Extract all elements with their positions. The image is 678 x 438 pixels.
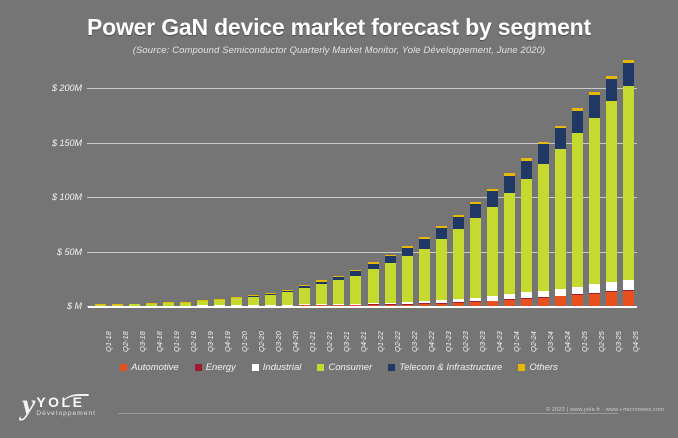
x-axis-tick-label: Q4-24 — [563, 331, 572, 352]
bar-segment-telecom-infrastructure — [521, 161, 532, 180]
legend-item-others[interactable]: Others — [518, 362, 558, 373]
x-axis-tick-labels: Q1-18Q2-18Q3-18Q4-18Q1-19Q2-19Q3-19Q4-19… — [92, 310, 637, 356]
y-axis-tick-mark — [87, 252, 93, 253]
bar-segment-consumer — [487, 207, 498, 296]
bar-segment-automotive — [538, 298, 549, 306]
legend-swatch-consumer — [317, 364, 324, 371]
bar-segment-telecom-infrastructure — [453, 217, 464, 230]
x-axis-tick-label: Q3-22 — [410, 331, 419, 352]
y-axis-tick-mark — [87, 197, 93, 198]
x-axis-tick-label: Q2-24 — [529, 331, 538, 352]
x-axis-tick-label: Q1-25 — [580, 331, 589, 352]
legend-label-energy: Energy — [206, 362, 236, 373]
bar-segment-consumer — [248, 297, 259, 305]
y-axis-tick-label: $ 100M — [52, 192, 82, 202]
x-axis-tick-label: Q1-24 — [512, 331, 521, 352]
bar-Q3-24[interactable] — [538, 142, 549, 306]
legend-item-automotive[interactable]: Automotive — [120, 362, 179, 373]
bar-segment-industrial — [555, 289, 566, 296]
bar-segment-automotive — [589, 294, 600, 306]
page-title: Power GaN device market forecast by segm… — [0, 14, 678, 41]
x-axis-tick-label: Q4-22 — [427, 331, 436, 352]
legend-item-consumer[interactable]: Consumer — [317, 362, 372, 373]
x-axis-tick-label: Q2-22 — [393, 331, 402, 352]
bar-segment-industrial — [572, 287, 583, 295]
logo-y-mark: y — [22, 392, 35, 418]
x-axis-tick-label: Q1-20 — [240, 331, 249, 352]
bar-Q3-25[interactable] — [606, 76, 617, 306]
bar-Q4-21[interactable] — [350, 270, 361, 306]
bar-Q4-25[interactable] — [623, 60, 634, 306]
x-axis-tick-label: Q2-21 — [325, 331, 334, 352]
bar-segment-telecom-infrastructure — [606, 79, 617, 102]
bar-segment-consumer — [419, 249, 430, 301]
legend-item-telecom-infrastructure[interactable]: Telecom & Infrastructure — [388, 362, 502, 373]
bar-segment-consumer — [231, 298, 242, 305]
bar-segment-consumer — [538, 164, 549, 290]
chart-subtitle: (Source: Compound Semiconductor Quarterl… — [0, 45, 678, 56]
y-axis-tick-label: $ M — [67, 301, 82, 311]
x-axis-line — [88, 306, 637, 308]
bar-Q2-20[interactable] — [248, 295, 259, 306]
bar-segment-consumer — [299, 288, 310, 304]
bar-segment-telecom-infrastructure — [470, 204, 481, 218]
bar-segment-consumer — [623, 86, 634, 280]
bar-segment-consumer — [333, 280, 344, 304]
gridline — [92, 88, 637, 89]
chart-page: Power GaN device market forecast by segm… — [0, 0, 678, 438]
legend-swatch-energy — [195, 364, 202, 371]
bar-segment-telecom-infrastructure — [572, 111, 583, 133]
x-axis-tick-label: Q1-19 — [172, 331, 181, 352]
bar-Q4-20[interactable] — [282, 290, 293, 306]
x-axis-tick-label: Q1-23 — [444, 331, 453, 352]
bar-segment-telecom-infrastructure — [385, 256, 396, 263]
bar-Q1-21[interactable] — [299, 285, 310, 306]
y-axis-tick-labels: $ M$ 50M$ 100M$ 150M$ 200M — [0, 88, 92, 313]
bar-Q2-23[interactable] — [453, 215, 464, 306]
bar-segment-consumer — [368, 269, 379, 303]
y-axis-tick-mark — [87, 88, 93, 89]
bar-segment-consumer — [572, 133, 583, 287]
bar-Q1-22[interactable] — [368, 262, 379, 306]
bar-segment-telecom-infrastructure — [436, 228, 447, 239]
bar-segment-telecom-infrastructure — [419, 239, 430, 249]
legend-label-industrial: Industrial — [263, 362, 302, 373]
bar-segment-telecom-infrastructure — [504, 176, 515, 193]
bar-segment-automotive — [623, 291, 634, 306]
bar-segment-telecom-infrastructure — [487, 191, 498, 207]
bar-Q2-25[interactable] — [589, 92, 600, 306]
bar-segment-automotive — [521, 299, 532, 306]
footer-copyright: © 2020 | www.yole.fr - www.i-micronews.c… — [546, 407, 664, 413]
bar-Q1-25[interactable] — [572, 108, 583, 306]
legend-label-consumer: Consumer — [328, 362, 372, 373]
bar-segment-consumer — [402, 256, 413, 302]
bar-segment-consumer — [385, 263, 396, 302]
x-axis-tick-label: Q4-21 — [359, 331, 368, 352]
x-axis-tick-label: Q4-18 — [155, 331, 164, 352]
x-axis-tick-label: Q4-23 — [495, 331, 504, 352]
y-axis-tick-label: $ 50M — [57, 247, 82, 257]
bar-segment-industrial — [589, 284, 600, 292]
x-axis-tick-label: Q2-23 — [461, 331, 470, 352]
x-axis-tick-label: Q2-18 — [121, 331, 130, 352]
bar-Q2-21[interactable] — [316, 280, 327, 306]
legend-label-automotive: Automotive — [131, 362, 179, 373]
x-axis-tick-label: Q3-25 — [614, 331, 623, 352]
legend-item-energy[interactable]: Energy — [195, 362, 236, 373]
bar-Q2-24[interactable] — [521, 158, 532, 306]
plot-area — [92, 88, 637, 306]
y-axis-tick-label: $ 150M — [52, 138, 82, 148]
x-axis-tick-label: Q4-25 — [631, 331, 640, 352]
bar-segment-consumer — [521, 179, 532, 292]
bar-segment-telecom-infrastructure — [402, 248, 413, 256]
bar-segment-telecom-infrastructure — [538, 144, 549, 164]
bar-Q3-22[interactable] — [402, 246, 413, 306]
bar-segment-consumer — [282, 292, 293, 305]
bar-Q4-24[interactable] — [555, 126, 566, 306]
bar-Q1-23[interactable] — [436, 226, 447, 306]
y-axis-tick-label: $ 200M — [52, 83, 82, 93]
x-axis-tick-label: Q3-18 — [138, 331, 147, 352]
y-axis-tick-mark — [87, 143, 93, 144]
bar-Q1-20[interactable] — [231, 297, 242, 306]
bar-segment-telecom-infrastructure — [555, 128, 566, 149]
bar-segment-consumer — [265, 295, 276, 305]
footer-divider — [118, 413, 618, 414]
bar-Q2-22[interactable] — [385, 255, 396, 306]
bar-segment-automotive — [606, 292, 617, 306]
x-axis-tick-label: Q2-20 — [257, 331, 266, 352]
bar-Q4-22[interactable] — [419, 237, 430, 306]
bar-segment-consumer — [555, 149, 566, 289]
bar-Q3-20[interactable] — [265, 293, 276, 306]
bar-Q3-23[interactable] — [470, 202, 481, 306]
legend-label-telecom-infrastructure: Telecom & Infrastructure — [399, 362, 502, 373]
legend-label-others: Others — [529, 362, 558, 373]
x-axis-tick-label: Q2-25 — [597, 331, 606, 352]
x-axis-tick-label: Q3-21 — [342, 331, 351, 352]
bar-segment-consumer — [589, 118, 600, 285]
bar-segment-consumer — [470, 218, 481, 298]
yole-logo: y YOLE Développement — [22, 392, 96, 418]
bar-Q1-24[interactable] — [504, 173, 515, 306]
x-axis-tick-label: Q1-21 — [308, 331, 317, 352]
bar-Q4-19[interactable] — [214, 299, 225, 306]
bar-segment-consumer — [436, 239, 447, 300]
x-axis-tick-label: Q3-20 — [274, 331, 283, 352]
bar-segment-consumer — [504, 193, 515, 294]
bar-segment-automotive — [555, 296, 566, 306]
bar-segment-consumer — [350, 276, 361, 304]
bar-segment-consumer — [316, 284, 327, 304]
legend-swatch-others — [518, 364, 525, 371]
x-axis-tick-label: Q4-20 — [291, 331, 300, 352]
bar-segment-automotive — [572, 295, 583, 306]
x-axis-tick-label: Q2-19 — [189, 331, 198, 352]
legend-swatch-industrial — [252, 364, 259, 371]
x-axis-tick-label: Q3-19 — [206, 331, 215, 352]
bar-segment-industrial — [606, 282, 617, 291]
legend-swatch-telecom-infrastructure — [388, 364, 395, 371]
x-axis-tick-label: Q4-19 — [223, 331, 232, 352]
y-axis-title-wrap: Power GaN device market size by market s… — [24, 300, 38, 310]
bar-segment-consumer — [453, 229, 464, 299]
bar-segment-telecom-infrastructure — [623, 63, 634, 86]
bar-Q4-23[interactable] — [487, 189, 498, 306]
x-axis-tick-label: Q3-23 — [478, 331, 487, 352]
x-axis-tick-label: Q1-18 — [104, 331, 113, 352]
footer: y YOLE Développement © 2020 | www.yole.f… — [0, 386, 678, 438]
legend-swatch-automotive — [120, 364, 127, 371]
x-axis-tick-label: Q3-24 — [546, 331, 555, 352]
bar-segment-consumer — [606, 101, 617, 282]
bar-segment-telecom-infrastructure — [589, 95, 600, 117]
bar-Q3-21[interactable] — [333, 276, 344, 306]
legend-item-industrial[interactable]: Industrial — [252, 362, 302, 373]
bar-segment-industrial — [623, 280, 634, 290]
x-axis-tick-label: Q1-22 — [376, 331, 385, 352]
chart-legend: AutomotiveEnergyIndustrialConsumerTeleco… — [0, 362, 678, 373]
